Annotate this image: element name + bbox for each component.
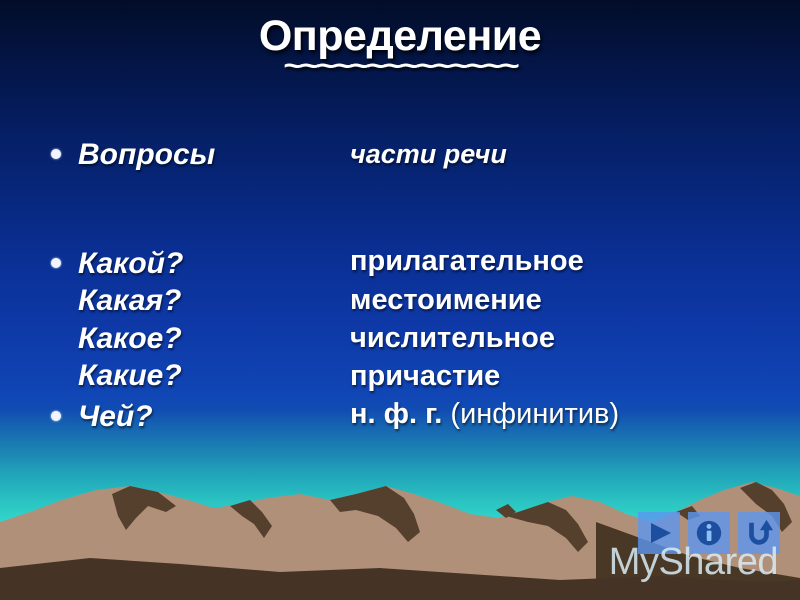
spacer-one <box>40 173 340 245</box>
list-item: числительное <box>350 319 770 357</box>
bullet-dot-icon <box>51 258 61 268</box>
list-item-bold: числительное <box>350 322 555 354</box>
presentation-board-icon <box>794 516 800 578</box>
slide-title-block: Определение ~~~~~~~~~~~~~~ <box>0 14 800 86</box>
list-item-normal: (инфинитив) <box>442 398 619 430</box>
watermark-label: MyShared <box>609 541 778 584</box>
right-column: части речи прилагательное местоимение чи… <box>350 138 770 434</box>
bullet-item-voprosy: Вопросы <box>40 136 340 173</box>
list-item-bold: н. ф. г. <box>350 398 442 430</box>
list-item-bold: причастие <box>350 360 500 392</box>
slide-canvas: Определение ~~~~~~~~~~~~~~ Вопросы Какой… <box>0 0 800 600</box>
bullet-label-kakoy: Какой? <box>78 245 340 282</box>
list-item: причастие <box>350 357 770 395</box>
list-item: н. ф. г. (инфинитив) <box>350 395 770 433</box>
right-column-heading: части речи <box>350 138 770 170</box>
sub-line-kakie: Какие? <box>40 357 340 394</box>
bullet-item-chey: Чей? <box>40 398 340 435</box>
list-item: местоимение <box>350 281 770 319</box>
bullet-dot-icon <box>51 149 61 159</box>
bullet-item-kakoy: Какой? <box>40 245 340 282</box>
bullet-label-chey: Чей? <box>78 398 340 435</box>
list-item-bold: прилагательное <box>350 245 584 277</box>
bullet-dot-icon <box>51 411 61 421</box>
title-wavy-underline: ~~~~~~~~~~~~~~ <box>0 50 800 83</box>
bullet-label-voprosy: Вопросы <box>78 136 340 173</box>
list-item-bold: местоимение <box>350 284 542 316</box>
left-column: Вопросы Какой? Какая? Какое? Какие? Чей? <box>40 136 340 435</box>
sub-line-kakoe: Какое? <box>40 320 340 357</box>
list-item: прилагательное <box>350 242 770 280</box>
right-column-spacer <box>350 170 770 242</box>
sub-line-kakaya: Какая? <box>40 282 340 319</box>
